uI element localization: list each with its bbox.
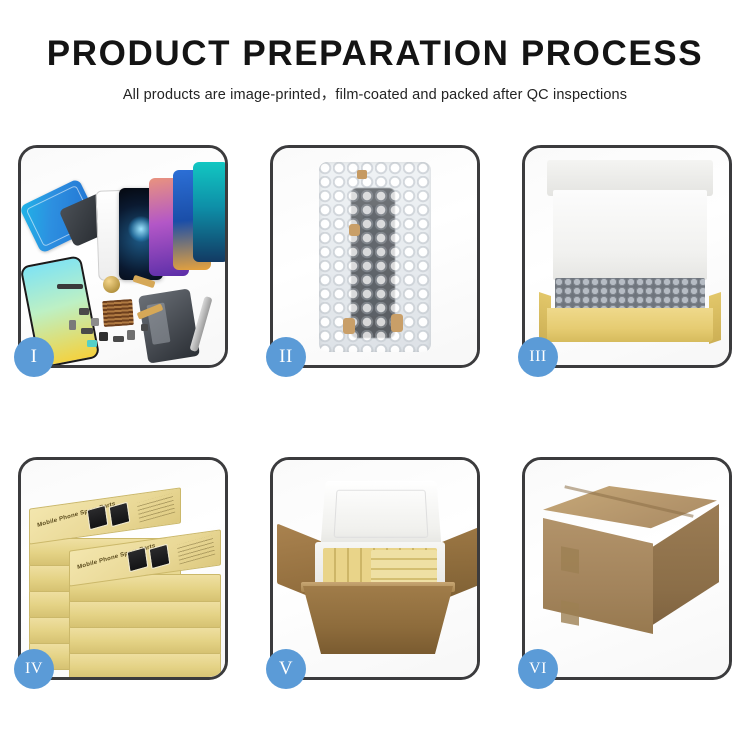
step-badge-4: IV [14,649,54,689]
step-badge-6: VI [518,649,558,689]
carton-left-face-icon [543,518,653,634]
step-panel-stacked-boxes: Mobile Phone Spare Parts Mobile Phone Sp… [18,457,228,680]
tape-mark-icon-4 [391,314,403,332]
small-part-icon-9 [87,340,97,347]
bubble-wrap-pouch-icon [319,162,431,352]
step-badge-3: III [518,337,558,377]
small-part-icon-5 [113,336,124,342]
step-image-5 [273,460,477,677]
step-panel-carton-with-foam-box: V [270,457,480,680]
carton-tape-icon-1 [561,546,579,573]
retail-box-icon [69,626,221,654]
tape-mark-icon-1 [357,170,367,179]
small-part-icon-6 [127,330,135,340]
step-panel-phones-and-parts: I [18,145,228,368]
step-image-4: Mobile Phone Spare Parts Mobile Phone Sp… [21,460,225,677]
small-part-icon-7 [69,320,76,330]
step-badge-5: V [266,649,306,689]
small-part-icon-4 [99,332,108,341]
step-panel-sealed-carton: VI [522,457,732,680]
box-spec-lines-icon [137,493,175,522]
small-part-icon-2 [91,318,99,326]
header: PRODUCT PREPARATION PROCESS All products… [0,0,750,104]
page-title: PRODUCT PREPARATION PROCESS [0,36,750,71]
retail-box-icon [69,652,221,677]
phone-teal-icon [193,162,225,262]
box-stack-icon: Mobile Phone Spare Parts Mobile Phone Sp… [29,474,223,670]
box-window-icon-b [149,544,171,570]
retail-box-icon [69,600,221,628]
page-subtitle: All products are image-printed，film-coat… [0,83,750,104]
process-step-grid: I II III [18,145,732,680]
small-part-icon-8 [141,324,148,331]
earpiece-strip-icon [57,284,83,289]
step-panel-open-kraft-box: III [522,145,732,368]
bubble-overlay-icon [319,162,431,352]
foam-liner-icon [553,190,707,280]
tape-mark-icon-3 [343,318,355,334]
step-image-3 [525,148,729,365]
box-spec-lines-icon [177,535,215,564]
step-image-2 [273,148,477,365]
box-window-icon-a [127,547,149,573]
step-badge-1: I [14,337,54,377]
small-part-icon-1 [79,308,89,315]
retail-box-top-icon: Mobile Phone Spare Parts [29,487,181,544]
tape-mark-icon-2 [349,224,360,236]
step-badge-2: II [266,337,306,377]
step-image-6 [525,460,729,677]
bubble-wrapped-contents-icon [555,278,705,312]
box-front-panel-icon [547,308,713,342]
foam-box-lid-icon [320,481,441,550]
carton-tape-icon-2 [561,600,579,625]
step-panel-bubble-wrapped-part: II [270,145,480,368]
box-window-icon-b [109,502,131,528]
chip-grid-icon [102,299,134,327]
carton-front-icon [303,586,453,654]
box-window-icon-a [87,505,109,531]
step-image-1 [21,148,225,365]
speaker-component-icon [103,276,120,293]
small-part-icon-3 [81,328,93,334]
